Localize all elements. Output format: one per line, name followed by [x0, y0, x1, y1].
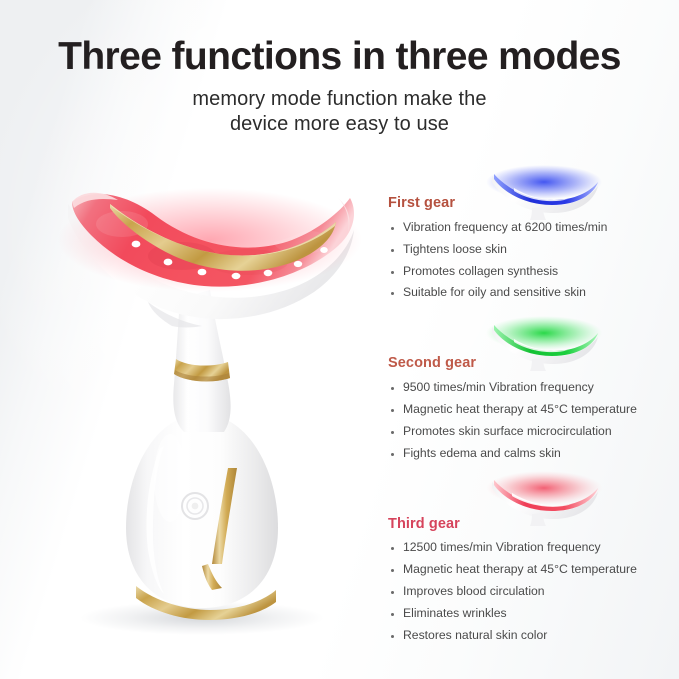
modes-list: First gear Vibration frequency at 6200 t…: [388, 196, 668, 665]
mode-block-second-gear: Second gear 9500 times/min Vibration fre…: [388, 356, 668, 464]
list-item: Fights edema and calms skin: [388, 443, 668, 465]
header: Three functions in three modes memory mo…: [0, 36, 679, 137]
mode-block-third-gear: Third gear 12500 times/min Vibration fre…: [388, 517, 668, 647]
mode-bullets-third-gear: 12500 times/min Vibration frequency Magn…: [388, 537, 668, 646]
mode-heading-third-gear: Third gear: [388, 517, 668, 533]
subtitle-line-2: device more easy to use: [0, 112, 679, 137]
list-item: Tightens loose skin: [388, 239, 668, 261]
list-item: 12500 times/min Vibration frequency: [388, 537, 668, 559]
mode-heading-second-gear: Second gear: [388, 356, 668, 372]
list-item: 9500 times/min Vibration frequency: [388, 377, 668, 399]
product-image-main: [52, 178, 382, 640]
subtitle-line-1: memory mode function make the: [0, 87, 679, 112]
list-item: Magnetic heat therapy at 45°C temperatur…: [388, 399, 668, 421]
page-title: Three functions in three modes: [0, 36, 679, 77]
page-subtitle: memory mode function make the device mor…: [0, 87, 679, 137]
mode-bullets-second-gear: 9500 times/min Vibration frequency Magne…: [388, 377, 668, 464]
list-item: Magnetic heat therapy at 45°C temperatur…: [388, 559, 668, 581]
mode-heading-first-gear: First gear: [388, 196, 668, 212]
device-base-sheen: [154, 434, 186, 522]
list-item: Improves blood circulation: [388, 581, 668, 603]
list-item: Promotes skin surface microcirculation: [388, 421, 668, 443]
list-item: Promotes collagen synthesis: [388, 261, 668, 283]
list-item: Suitable for oily and sensitive skin: [388, 282, 668, 304]
infographic-page: Three functions in three modes memory mo…: [0, 0, 679, 679]
mode-block-first-gear: First gear Vibration frequency at 6200 t…: [388, 196, 668, 304]
mode-bullets-first-gear: Vibration frequency at 6200 times/min Ti…: [388, 217, 668, 304]
list-item: Vibration frequency at 6200 times/min: [388, 217, 668, 239]
list-item: Restores natural skin color: [388, 625, 668, 647]
list-item: Eliminates wrinkles: [388, 603, 668, 625]
